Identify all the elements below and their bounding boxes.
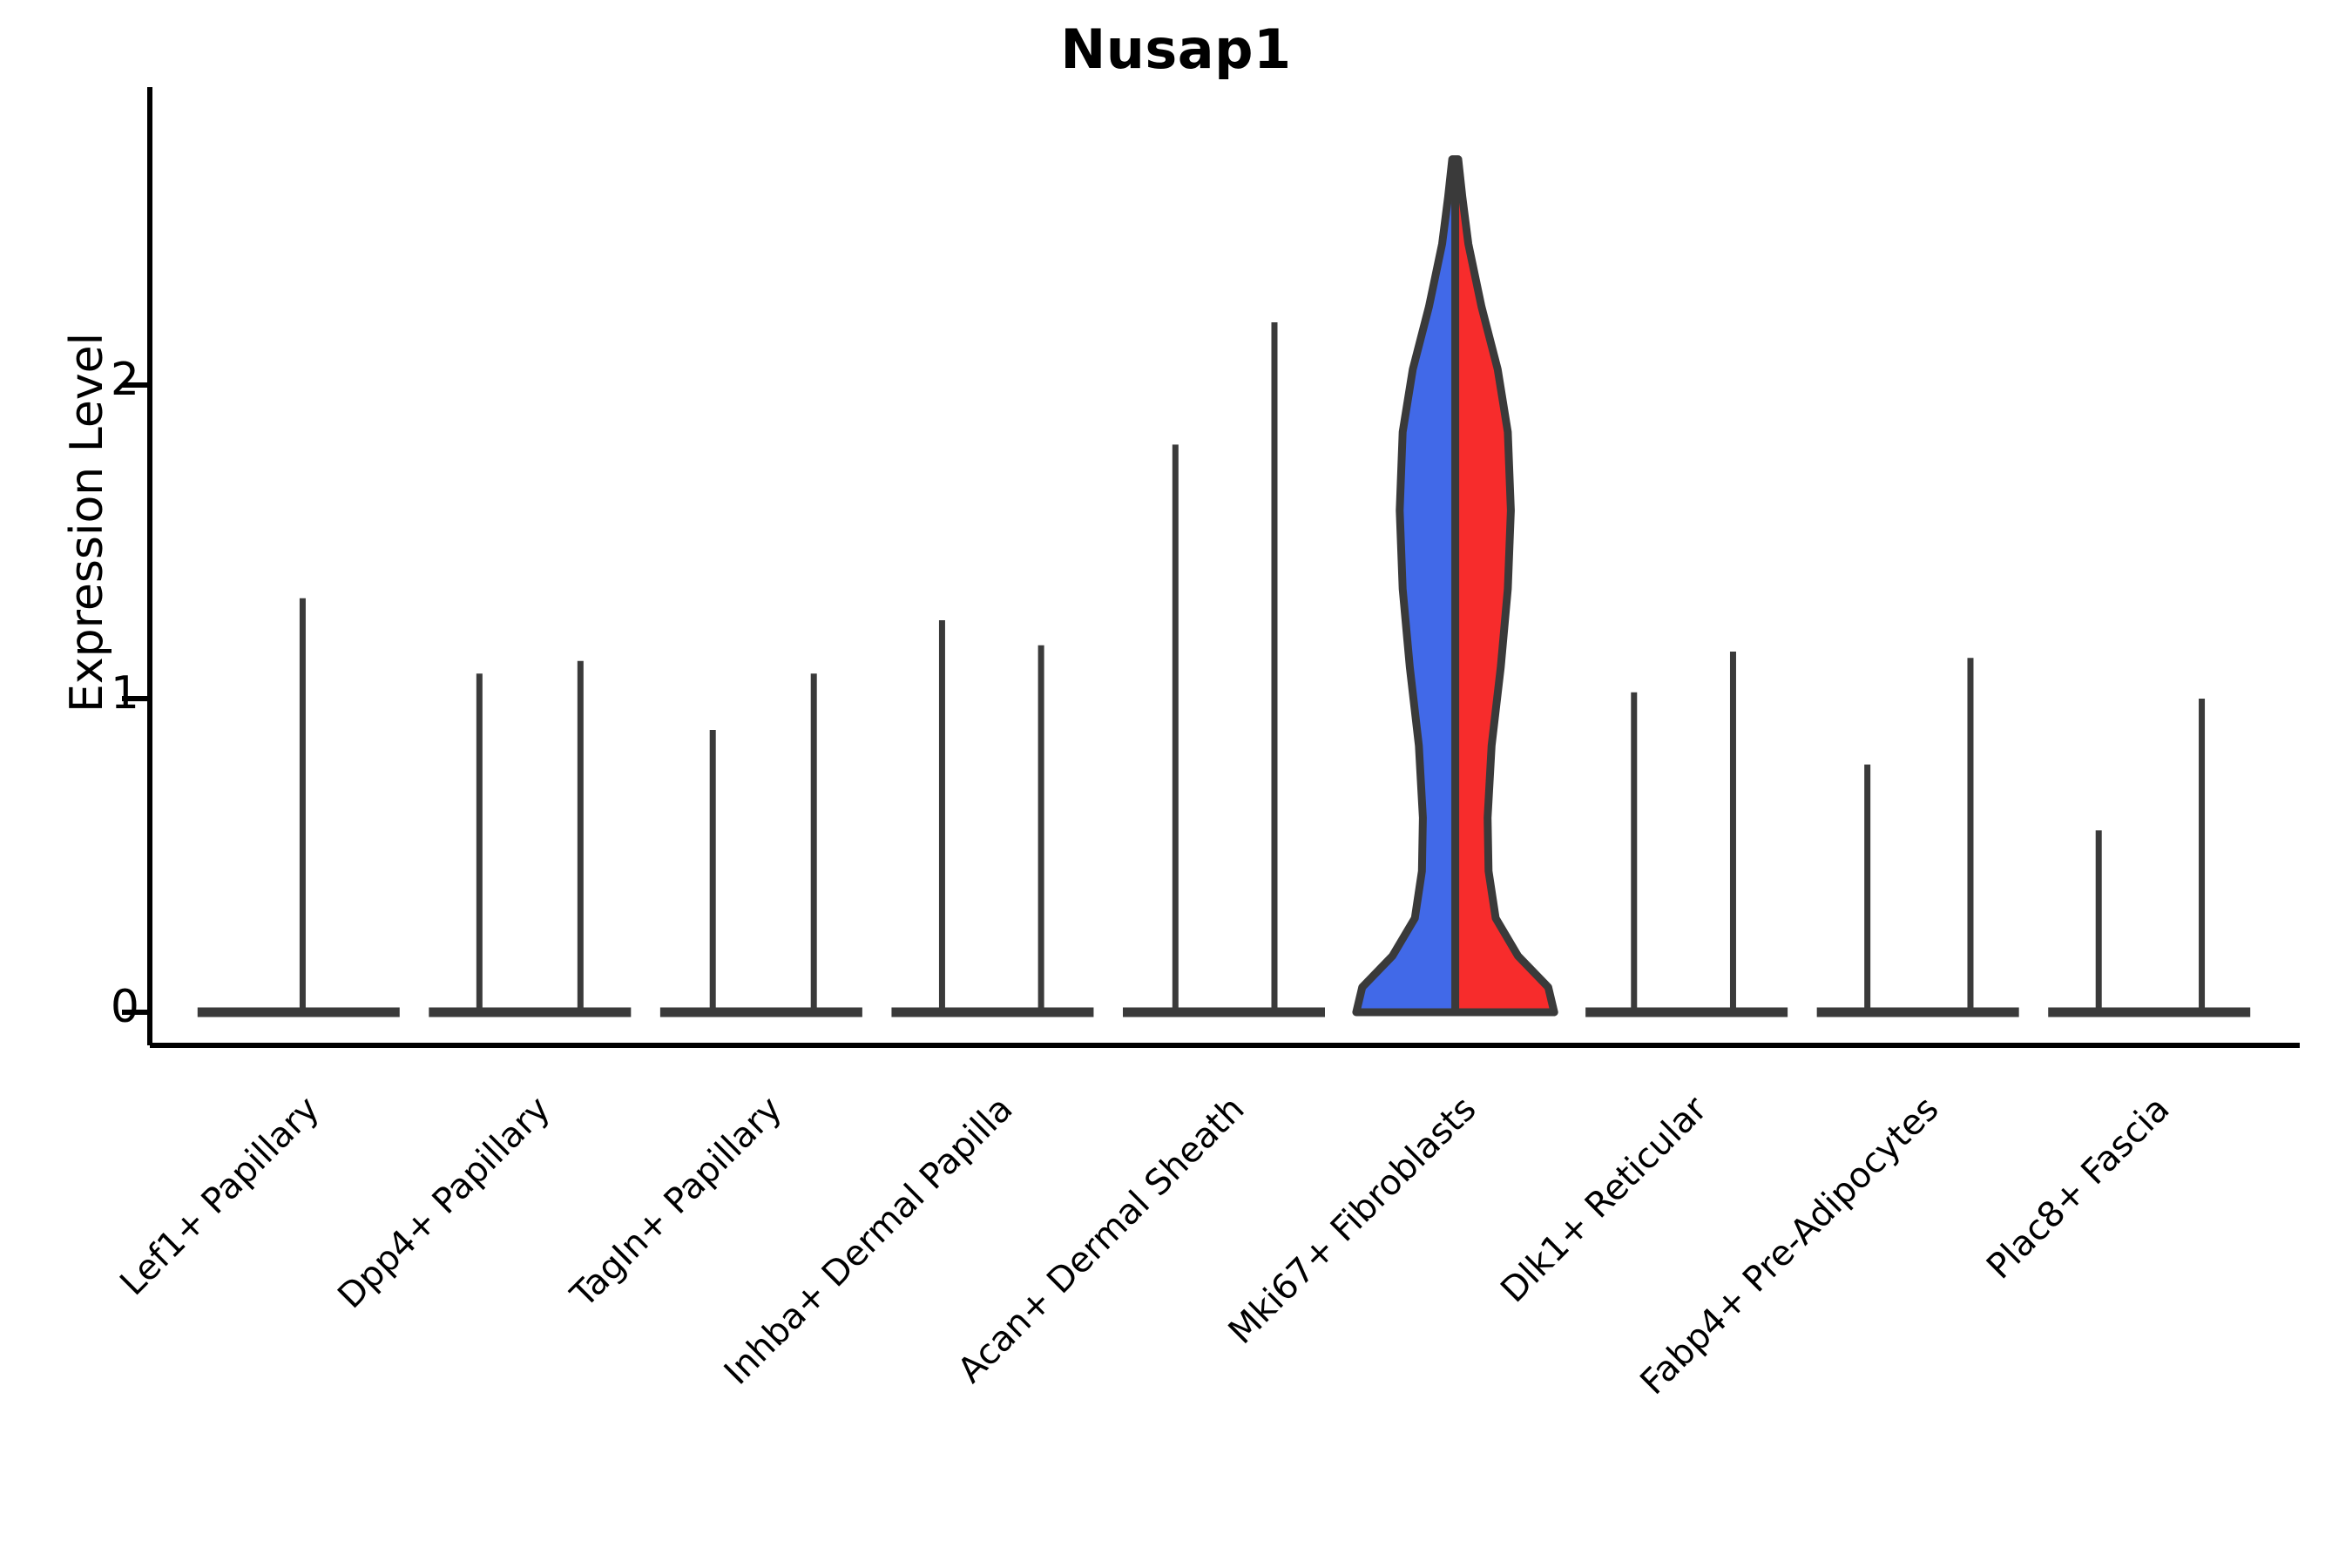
violin-group[interactable] (198, 598, 400, 1012)
violin-group[interactable] (429, 661, 631, 1012)
violin-group[interactable] (1585, 652, 1788, 1012)
violin-group[interactable] (891, 620, 1093, 1012)
violin-group[interactable] (660, 673, 862, 1012)
violin-plot-figure: Nusap1 Expression Level 012 Lef1+ Papill… (0, 0, 2352, 1568)
violin-group[interactable] (1817, 658, 2019, 1012)
plot-canvas (0, 0, 2352, 1568)
violin-group[interactable] (2048, 699, 2250, 1012)
violin-group[interactable] (1356, 159, 1554, 1012)
violin-group[interactable] (1123, 322, 1325, 1012)
